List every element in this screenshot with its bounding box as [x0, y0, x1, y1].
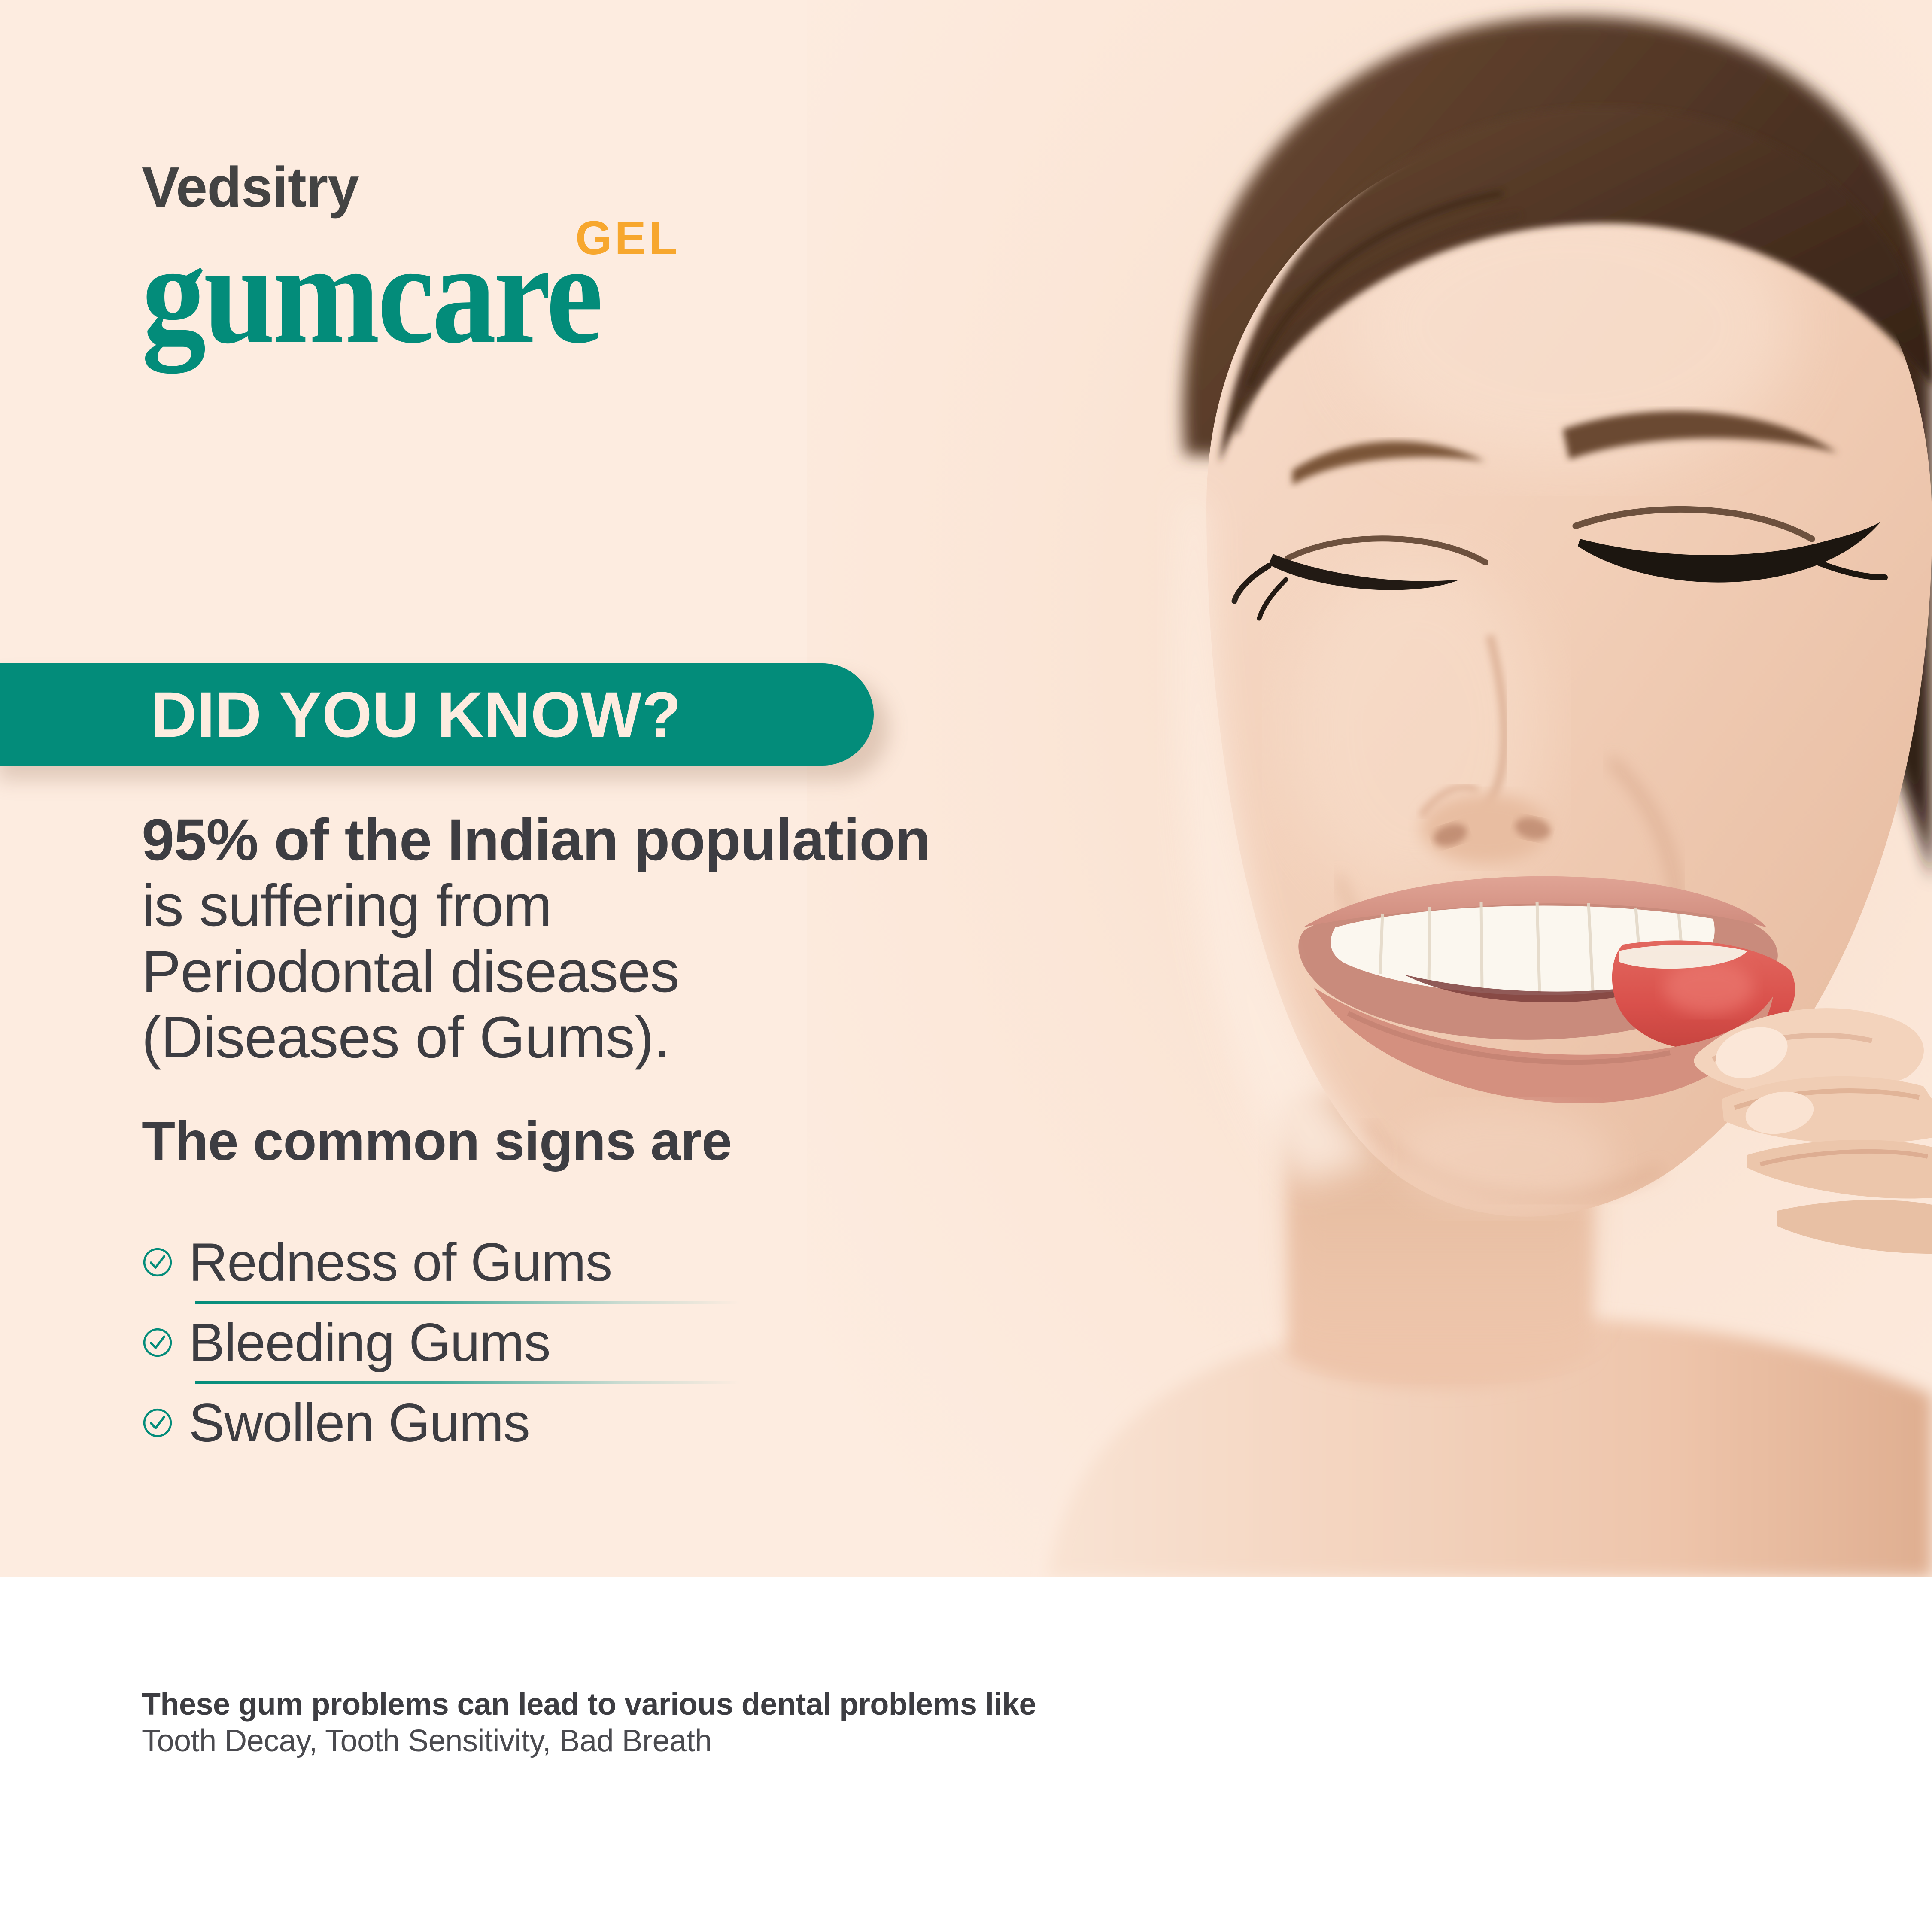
brand-product-type: GEL — [575, 215, 680, 262]
footer-line-2: Tooth Decay, Tooth Sensitivity, Bad Brea… — [142, 1723, 1036, 1759]
footer-text-block: These gum problems can lead to various d… — [142, 1686, 1036, 1759]
list-item: Bleeding Gums — [142, 1304, 880, 1381]
peach-background-panel: Vedsitry gumcare GEL DID YOU KNOW? 95% o… — [0, 0, 1932, 1577]
banner-label: DID YOU KNOW? — [150, 682, 681, 747]
check-circle-icon — [142, 1246, 173, 1278]
hero-photo — [807, 0, 1932, 1577]
list-item-label: Bleeding Gums — [189, 1316, 550, 1370]
brand-product-name: gumcare — [142, 225, 601, 362]
headline-line-2: Periodontal diseases — [142, 939, 1151, 1005]
list-item: Redness of Gums — [142, 1224, 880, 1301]
check-circle-icon — [142, 1407, 173, 1439]
poster-root: Vedsitry gumcare GEL DID YOU KNOW? 95% o… — [0, 0, 1932, 1932]
signs-list: Redness of Gums Bleeding Gums Swollen Gu… — [142, 1224, 880, 1461]
signs-heading: The common signs are — [142, 1114, 732, 1169]
list-divider — [195, 1301, 740, 1304]
headline-emphasis: 95% of the Indian population — [142, 807, 1151, 873]
headline-line-3: (Diseases of Gums). — [142, 1005, 1151, 1070]
list-item-label: Swollen Gums — [189, 1396, 530, 1450]
list-divider — [195, 1381, 740, 1384]
list-item: Swollen Gums — [142, 1384, 880, 1461]
headline-body: is suffering from Periodontal diseases (… — [142, 873, 1151, 1070]
headline-block: 95% of the Indian population is sufferin… — [142, 807, 1151, 1071]
check-circle-icon — [142, 1327, 173, 1358]
brand-company-name: Vedsitry — [142, 159, 601, 216]
did-you-know-banner: DID YOU KNOW? — [0, 663, 874, 766]
headline-line-1: is suffering from — [142, 873, 1151, 939]
footer-panel: These gum problems can lead to various d… — [0, 1577, 1932, 1932]
brand-block: Vedsitry gumcare — [142, 159, 601, 347]
footer-line-1: These gum problems can lead to various d… — [142, 1686, 1036, 1723]
list-item-label: Redness of Gums — [189, 1236, 612, 1289]
